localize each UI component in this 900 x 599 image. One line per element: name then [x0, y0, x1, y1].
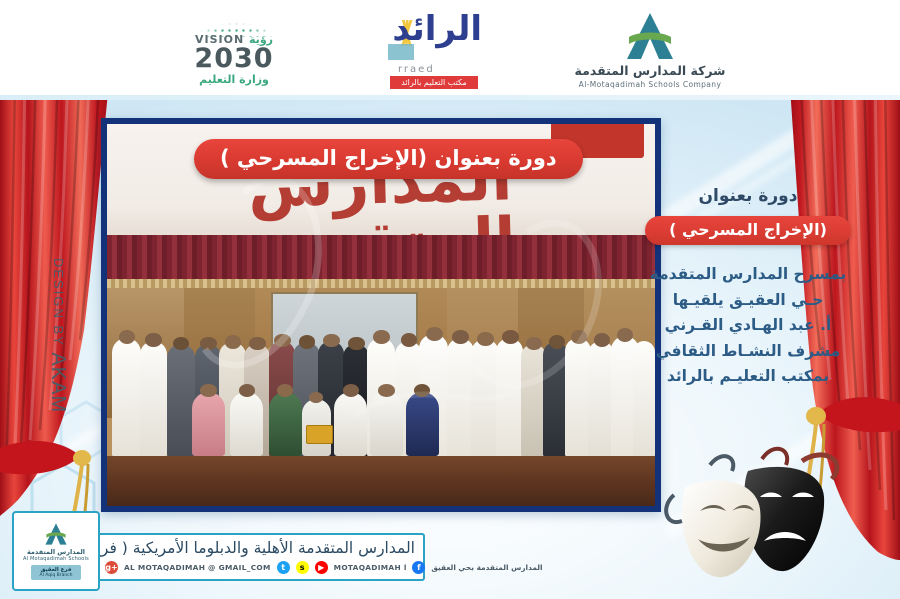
rraed-latin-label: rraed	[398, 64, 435, 75]
stage-floor	[107, 456, 655, 506]
info-line: حـي العقيـق يلقيـها	[618, 293, 878, 309]
footer-bar: المدارس المتقدمة الأهلية والدبلوما الأمر…	[0, 524, 900, 599]
snapchat-icon[interactable]: s	[296, 561, 309, 574]
badge-branch-english: Al Aqiq Branch	[39, 573, 72, 578]
school-a-mark-icon	[613, 11, 687, 61]
vision-2030-logo: VISION رؤية 2030 وزارة التعليم	[170, 11, 298, 89]
award-plaque	[306, 425, 332, 443]
design-credit: DESIGN BY AKAM	[46, 258, 69, 413]
al-motaqadimah-schools-company-logo: شركة المدارس المتقدمة Al-Motaqadimah Sch…	[570, 9, 730, 91]
hexagon-decoration-icon	[0, 300, 50, 358]
event-info-block: دورة بعنوان (الإخراج المسرحي ) بمسرح الم…	[618, 186, 878, 395]
event-photo: المدارس المتقدمة	[107, 124, 655, 506]
info-line: مشرف النشـاط الثقافي	[618, 344, 878, 360]
school-badge: المدارس المتقدمة Al Motaqadimah Schools …	[12, 511, 100, 591]
google-plus-icon[interactable]: g+	[105, 561, 118, 574]
footer-contact-card: المدارس المتقدمة الأهلية والدبلوما الأمر…	[95, 533, 425, 581]
curtain-tieback-right	[780, 386, 900, 516]
youtube-icon[interactable]: ▶	[315, 561, 328, 574]
vision-ministry-label: وزارة التعليم	[170, 73, 298, 86]
info-line: أ. عبد الهـادي القـرني	[618, 318, 878, 334]
poster-title-pill: دورة بعنوان (الإخراج المسرحي )	[194, 139, 583, 179]
info-line: بمكتب التعليـم بالرائد	[618, 369, 878, 385]
vision-number: 2030	[170, 43, 298, 74]
badge-arabic-name: المدارس المتقدمة	[27, 548, 85, 556]
info-heading: دورة بعنوان	[618, 186, 878, 206]
poster-canvas: VISION رؤية 2030 وزارة التعليم الرائد rr…	[0, 0, 900, 599]
footer-facebook-page[interactable]: المدارس المتقدمة بحي العقيق	[431, 563, 542, 572]
rraed-arabic-label: الرائد	[392, 12, 482, 46]
stage-drape	[107, 235, 655, 281]
rraed-bar-label: مكتب التعليم بالرائد	[390, 76, 478, 89]
info-line: بمسرح المدارس المتقدمة	[618, 267, 878, 283]
badge-english-name: Al Motaqadimah Schools	[23, 556, 89, 562]
info-subject-pill: (الإخراج المسرحي )	[645, 216, 851, 245]
twitter-icon[interactable]: t	[277, 561, 290, 574]
design-credit-name: AKAM	[47, 352, 69, 413]
footer-handle[interactable]: MOTAQADIMAH ا	[334, 563, 407, 572]
school-a-mark-icon	[39, 522, 73, 546]
footer-title: المدارس المتقدمة الأهلية والدبلوما الأمر…	[105, 539, 415, 557]
stage-fringe	[107, 279, 655, 289]
company-english-label: Al-Motaqadimah Schools Company	[579, 80, 722, 89]
company-arabic-label: شركة المدارس المتقدمة	[575, 63, 726, 78]
group-photo-crowd	[107, 296, 655, 456]
footer-email[interactable]: AL MOTAQADIMAH @ GMAIL_COM	[124, 563, 271, 572]
facebook-icon[interactable]: f	[412, 561, 425, 574]
logo-row: VISION رؤية 2030 وزارة التعليم الرائد rr…	[0, 0, 900, 100]
footer-contacts-row: g+ AL MOTAQADIMAH @ GMAIL_COM t s ▶ MOTA…	[105, 561, 415, 574]
badge-branch: فرع العقيق Al Aqiq Branch	[31, 565, 80, 580]
design-credit-prefix: DESIGN BY	[51, 258, 66, 347]
rraed-education-office-logo: الرائد rraed مكتب التعليم بالرائد	[384, 8, 484, 92]
